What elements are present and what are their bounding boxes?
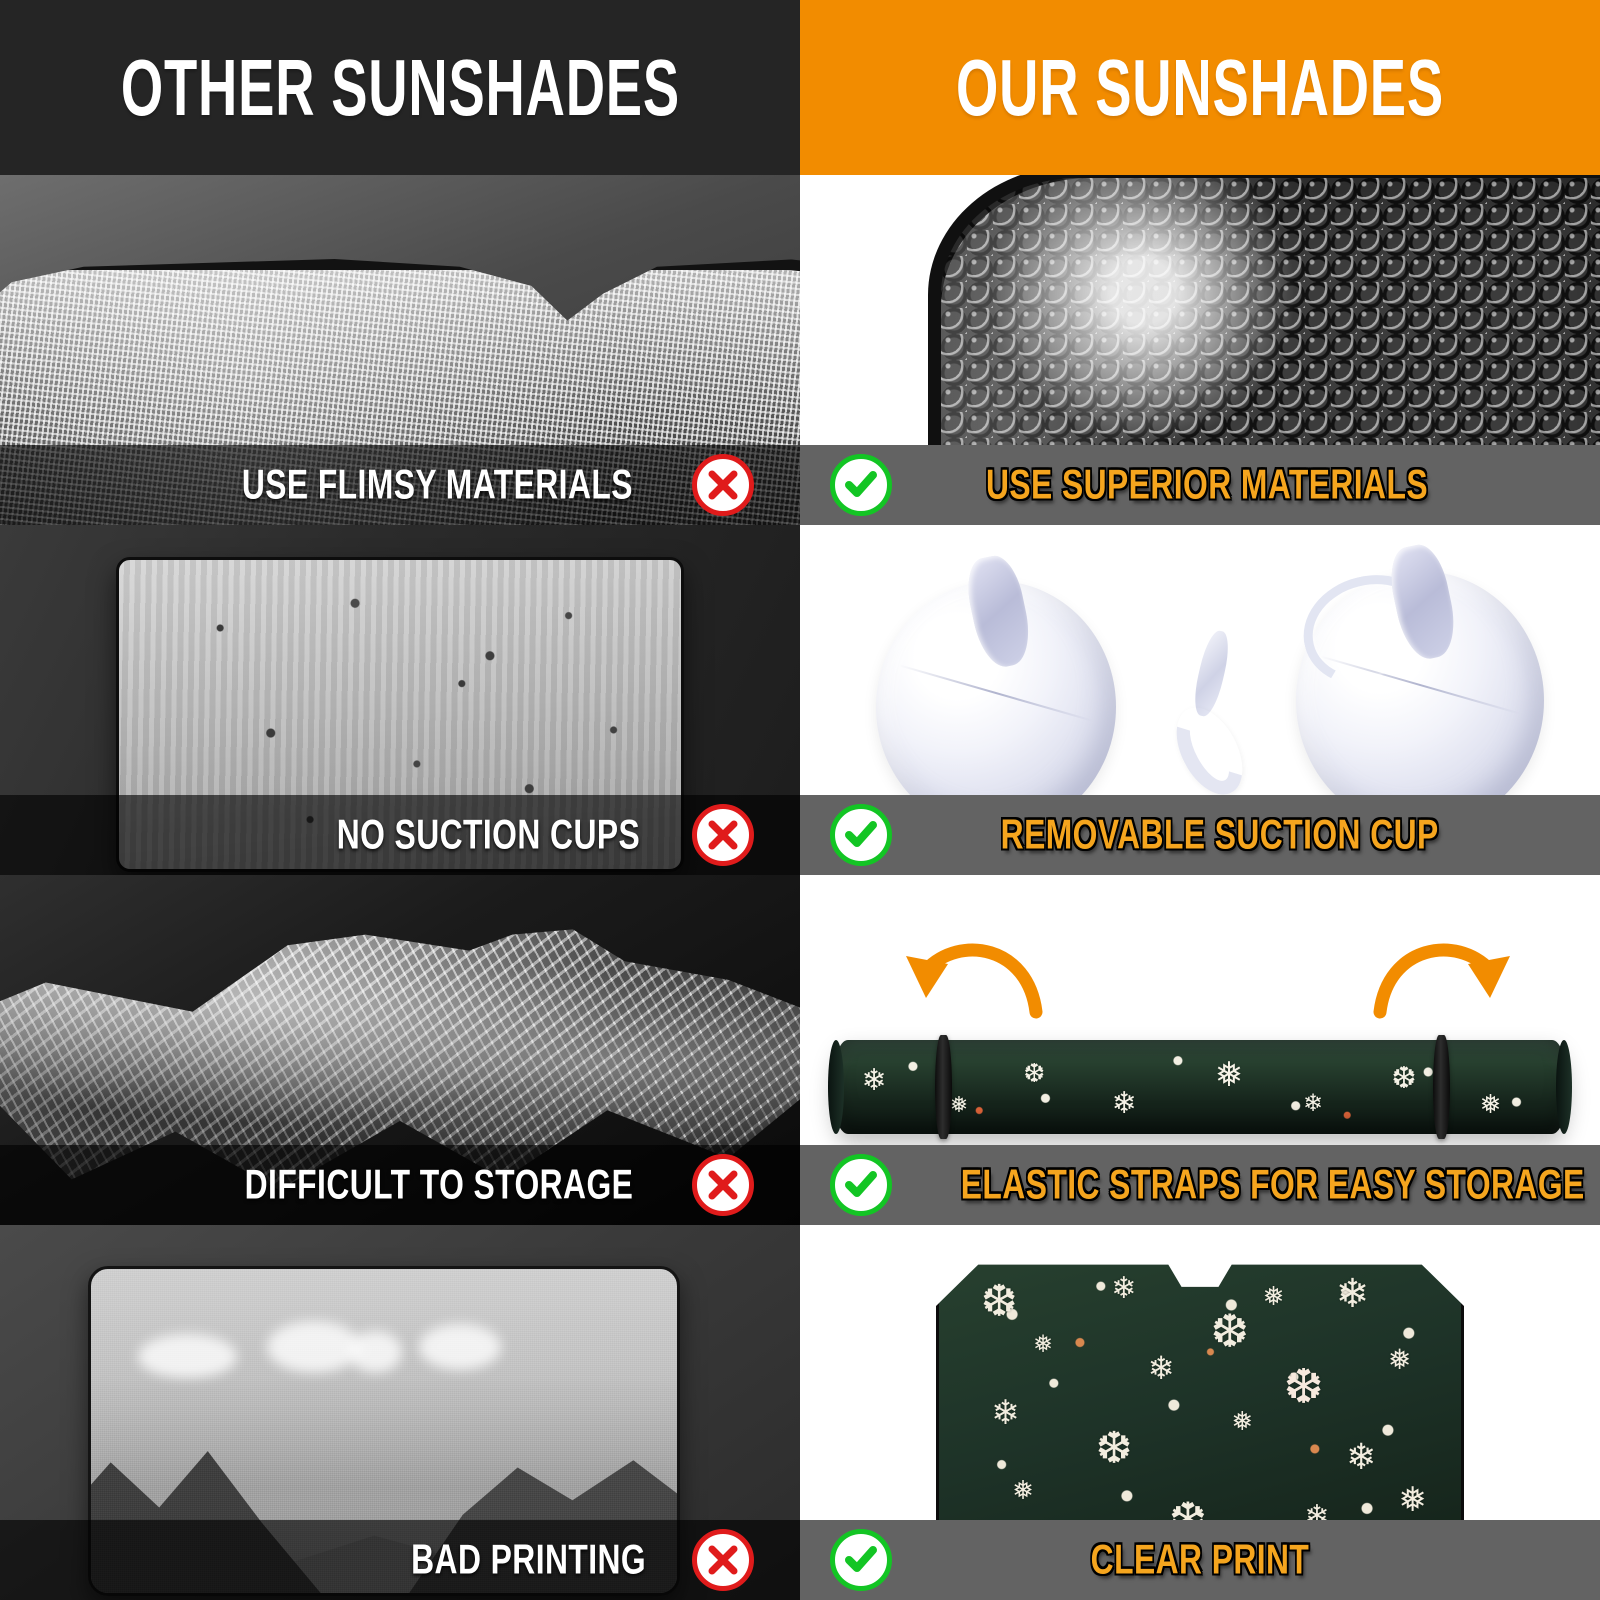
label-band-other-materials: USE FLIMSY MATERIALS	[0, 445, 800, 525]
removable-hook	[1180, 630, 1240, 798]
label-other-storage: DIFFICULT TO STORAGE	[245, 1161, 634, 1208]
curved-arrow-left-icon	[904, 928, 1044, 1023]
label-band-other-suction: NO SUCTION CUPS	[0, 795, 800, 875]
label-band-ours-storage: ELASTIC STRAPS FOR EASY STORAGE	[800, 1145, 1600, 1225]
curved-arrow-right-icon	[1372, 928, 1512, 1023]
header-title-ours: OUR SUNSHADES	[956, 41, 1444, 133]
cell-ours-suction: REMOVABLE SUCTION CUP	[800, 525, 1600, 875]
suction-cup-right	[1296, 571, 1544, 830]
cross-icon	[692, 1529, 754, 1591]
label-ours-printing: CLEAR PRINT	[856, 1536, 1544, 1583]
check-icon	[830, 1529, 892, 1591]
cell-other-storage: DIFFICULT TO STORAGE	[0, 875, 800, 1225]
elastic-strap-right	[1433, 1035, 1450, 1139]
label-band-other-printing: BAD PRINTING	[0, 1520, 800, 1600]
label-other-suction: NO SUCTION CUPS	[337, 811, 640, 858]
header-right-ours: OUR SUNSHADES	[800, 0, 1600, 175]
label-band-other-storage: DIFFICULT TO STORAGE	[0, 1145, 800, 1225]
check-icon	[830, 1154, 892, 1216]
comparison-infographic: OTHER SUNSHADES OUR SUNSHADES USE FLIMSY…	[0, 0, 1600, 1600]
check-icon	[830, 804, 892, 866]
label-band-ours-materials: USE SUPERIOR MATERIALS	[800, 445, 1600, 525]
row-storage: DIFFICULT TO STORAGE	[0, 875, 1600, 1225]
label-band-ours-printing: CLEAR PRINT	[800, 1520, 1600, 1600]
cell-ours-storage: ❄ ❅ ❆ ❄ ❅ ❄ ❆ ❅ ELASTIC STRAPS FOR EASY …	[800, 875, 1600, 1225]
header-title-other: OTHER SUNSHADES	[120, 41, 679, 133]
cross-icon	[692, 454, 754, 516]
cell-ours-printing: ❆ ❄ ❅ ❄ ❆ ❅ ❄ ❆ ❅ ❄ ❆ ❅ ❄ ❅ ❆	[800, 1225, 1600, 1600]
cell-other-materials: USE FLIMSY MATERIALS	[0, 175, 800, 525]
header: OTHER SUNSHADES OUR SUNSHADES	[0, 0, 1600, 175]
row-suction-cups: NO SUCTION CUPS	[0, 525, 1600, 875]
label-ours-materials: USE SUPERIOR MATERIALS	[986, 461, 1428, 508]
check-icon	[830, 454, 892, 516]
label-band-ours-suction: REMOVABLE SUCTION CUP	[800, 795, 1600, 875]
rolled-sunshade-shape: ❄ ❅ ❆ ❄ ❅ ❄ ❆ ❅	[832, 1040, 1568, 1135]
label-ours-storage: ELASTIC STRAPS FOR EASY STORAGE	[961, 1161, 1585, 1208]
comparison-rows: USE FLIMSY MATERIALS USE SUPERIOR MATERI…	[0, 175, 1600, 1600]
cross-icon	[692, 1154, 754, 1216]
label-other-printing: BAD PRINTING	[411, 1536, 646, 1583]
label-other-materials: USE FLIMSY MATERIALS	[242, 461, 633, 508]
cell-other-printing: BAD PRINTING	[0, 1225, 800, 1600]
cell-other-suction: NO SUCTION CUPS	[0, 525, 800, 875]
elastic-strap-left	[935, 1035, 952, 1139]
row-materials: USE FLIMSY MATERIALS USE SUPERIOR MATERI…	[0, 175, 1600, 525]
label-ours-suction: REMOVABLE SUCTION CUP	[1001, 811, 1439, 858]
header-left-other: OTHER SUNSHADES	[0, 0, 800, 175]
cell-ours-materials: USE SUPERIOR MATERIALS	[800, 175, 1600, 525]
row-printing: BAD PRINTING ❆ ❄ ❅ ❄ ❆ ❅	[0, 1225, 1600, 1600]
cross-icon	[692, 804, 754, 866]
